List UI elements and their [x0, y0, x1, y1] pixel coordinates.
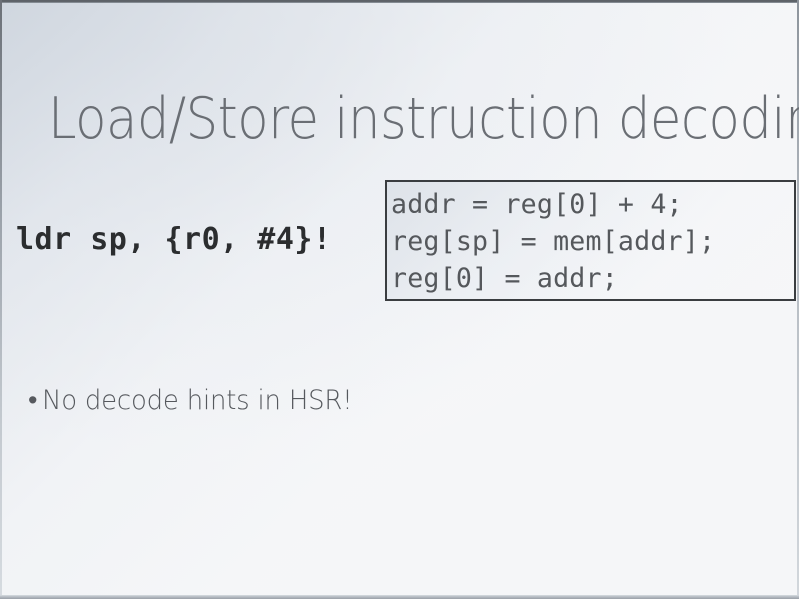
slide-left-border: [0, 0, 2, 599]
list-item: • No decode hints in HSR!: [28, 385, 528, 417]
assembly-instruction-text: ldr sp, {r0, #4}!: [16, 222, 332, 257]
code-line: reg[0] = addr;: [391, 260, 788, 297]
presentation-slide: Load/Store instruction decoding ldr sp, …: [0, 0, 799, 599]
code-line: reg[sp] = mem[addr];: [391, 223, 788, 260]
slide-top-border: [0, 0, 799, 3]
pseudocode-box: addr = reg[0] + 4; reg[sp] = mem[addr]; …: [385, 180, 796, 301]
code-line: addr = reg[0] + 4;: [391, 186, 788, 223]
list-item-label: No decode hints in HSR!: [42, 385, 352, 417]
slide-bottom-border: [0, 595, 799, 599]
bullet-dot-icon: •: [28, 385, 42, 417]
bullet-list: • No decode hints in HSR!: [28, 385, 528, 417]
page-title: Load/Store instruction decoding: [48, 90, 705, 150]
